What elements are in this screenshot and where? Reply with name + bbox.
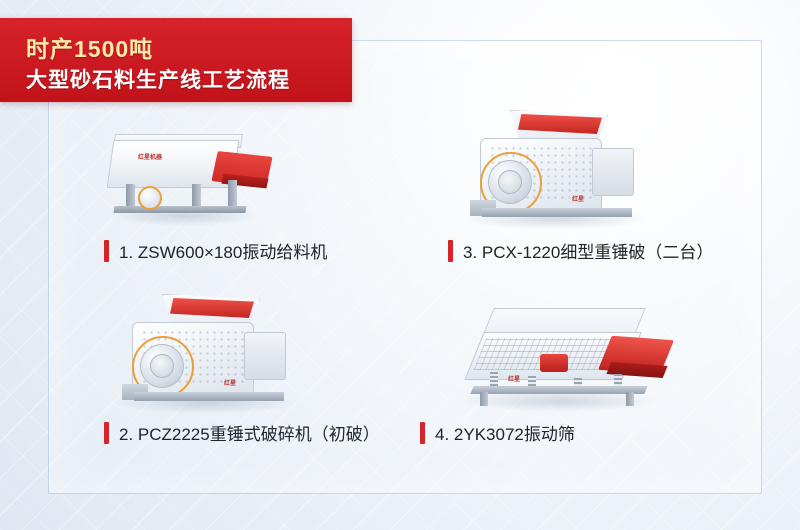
caption-label-3: 3. PCX-1220细型重锤破（二台） — [463, 238, 713, 263]
title-banner: 时产1500吨 大型砂石料生产线工艺流程 — [0, 18, 352, 102]
machine-image-vibrating-feeder: 红星机器 — [96, 128, 272, 228]
crusher-side-housing — [592, 148, 634, 196]
feeder-base-frame — [114, 206, 247, 213]
infographic-page: 时产1500吨 大型砂石料生产线工艺流程 红星机器 红星 — [0, 0, 800, 530]
title-line-2: 大型砂石料生产线工艺流程 — [26, 64, 290, 94]
caption-item-4: 4. 2YK3072振动筛 — [420, 420, 575, 445]
screen-leg — [480, 392, 488, 406]
title-line-1: 时产1500吨 — [26, 30, 153, 64]
screen-leg — [626, 392, 634, 406]
screen-base-frame — [470, 386, 647, 394]
crusher-side-housing — [244, 332, 286, 380]
brand-label: 红星 — [572, 194, 584, 203]
caption-accent-bar — [448, 240, 453, 262]
machine-image-heavy-hammer-crusher: 红星 — [104, 292, 314, 420]
caption-accent-bar — [104, 422, 109, 444]
caption-accent-bar — [420, 422, 425, 444]
caption-item-2: 2. PCZ2225重锤式破碎机（初破） — [104, 420, 380, 445]
crusher-base-frame — [482, 208, 632, 217]
caption-label-1: 1. ZSW600×180振动给料机 — [119, 238, 327, 263]
caption-accent-bar — [104, 240, 109, 262]
caption-item-1: 1. ZSW600×180振动给料机 — [104, 238, 327, 263]
machine-image-fine-hammer-crusher: 红星 — [452, 108, 662, 236]
caption-label-4: 4. 2YK3072振动筛 — [435, 420, 575, 445]
crusher-base-frame — [134, 392, 284, 401]
caption-item-3: 3. PCX-1220细型重锤破（二台） — [448, 238, 713, 263]
machine-image-vibrating-screen: 红星 — [456, 298, 676, 418]
brand-label: 红星 — [508, 374, 520, 383]
brand-label: 红星 — [224, 378, 236, 387]
brand-label: 红星机器 — [138, 152, 162, 161]
screen-vibrator-motor — [540, 354, 568, 372]
feeder-drive-wheel-icon — [138, 186, 162, 210]
caption-label-2: 2. PCZ2225重锤式破碎机（初破） — [119, 420, 380, 445]
